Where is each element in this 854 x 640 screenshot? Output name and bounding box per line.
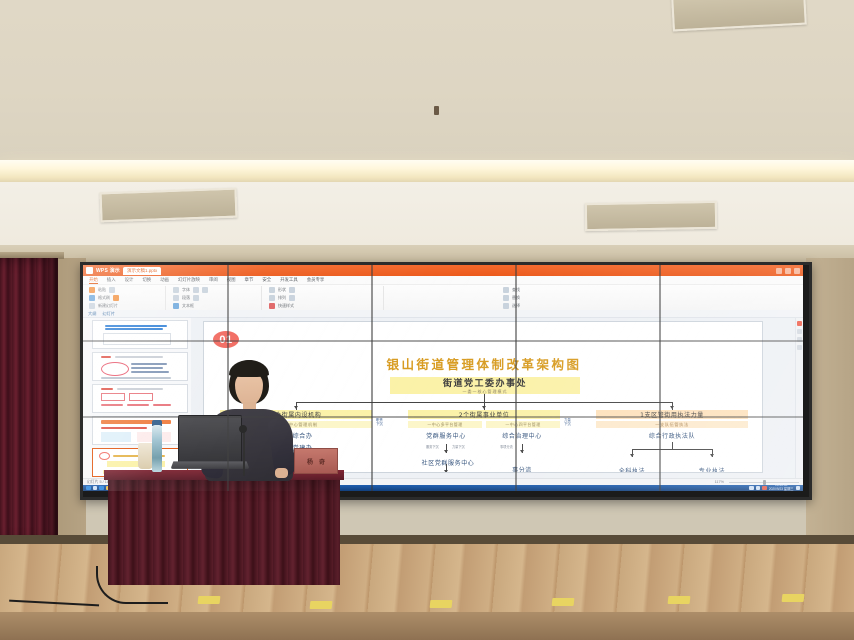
textbox-icon[interactable] [173, 303, 179, 309]
slides-tab[interactable]: 幻灯片 [102, 311, 115, 317]
ribbon-tab-11[interactable]: 会员专享 [307, 277, 325, 283]
font-size-icon[interactable] [193, 287, 199, 293]
ribbon-label-0-3[interactable]: 新建幻灯片 [98, 303, 118, 309]
select-icon[interactable] [503, 303, 509, 309]
arrange-icon[interactable] [269, 295, 275, 301]
laptop-keyboard [171, 461, 250, 468]
floor-tape-mark-5 [668, 596, 691, 604]
show-desktop-button[interactable] [796, 486, 801, 491]
ribbon-tab-4[interactable]: 动画 [160, 277, 169, 283]
wps-app-name: WPS 演示 [96, 267, 120, 274]
nameplate-char-left: 杨 [307, 457, 313, 466]
volume-tray-icon[interactable] [756, 486, 761, 491]
panel-bezel-h-1 [83, 340, 803, 342]
ribbon-separator-2 [261, 286, 262, 310]
arrowhead-1-a [444, 450, 448, 453]
thumbnail-slide-9[interactable]: 9 [92, 416, 188, 445]
wps-cloud-icon[interactable] [797, 321, 802, 326]
mini-label-1-c: 事项分流 [500, 444, 513, 449]
start-button-icon[interactable] [86, 486, 91, 491]
org-leaf-2-1: 专业执法 [684, 466, 740, 473]
ime-tray-icon[interactable] [762, 486, 767, 491]
ribbon-group-1: 字体 段落 文本框 [173, 287, 208, 309]
ribbon-separator-3 [383, 286, 384, 310]
microphone-head [239, 425, 247, 433]
org-column-1-twin: 一中心多平台管理 一中心四平台管理 [408, 421, 560, 428]
ribbon-group-3: 查找 替换 选择 [503, 287, 520, 309]
thumbnail-slide-6[interactable]: 6 [92, 320, 188, 349]
nameplate-char-right: 奇 [319, 457, 325, 466]
format-painter-icon[interactable] [89, 295, 95, 301]
stage-front-edge [0, 612, 854, 640]
ribbon-tab-0[interactable]: 开始 [89, 277, 98, 284]
thumbnail-slide-8[interactable]: 8 [92, 384, 188, 413]
ribbon-label-1-1[interactable]: 字体 [182, 287, 190, 293]
thumbnail-slide-7[interactable]: 7 [92, 352, 188, 381]
org-leaf-2-0: 全科执法 [604, 466, 660, 473]
org-item-1-0: 党群服务中心 [426, 431, 466, 440]
mini-label-1-a: 服务下沉 [426, 444, 439, 449]
ribbon-label-1-3[interactable]: 文本框 [182, 303, 194, 309]
ribbon-label-2-1[interactable]: 形状 [278, 287, 286, 293]
ribbon-label-0-2[interactable]: 格式刷 [98, 295, 110, 301]
arrowhead-col-1 [482, 406, 486, 409]
microphone-stand [243, 430, 245, 476]
conference-room-scene: WPS 演示 演示文稿1.pptx 开始 插入 设计 切换 动画 幻灯片放映 审… [0, 0, 854, 640]
ribbon-tab-2[interactable]: 设计 [125, 277, 134, 283]
arrowhead-2-left [630, 454, 634, 457]
align-icon[interactable] [173, 295, 179, 301]
presenter-fringe [229, 360, 269, 377]
connector-top-stem [484, 394, 485, 402]
network-tray-icon[interactable] [749, 486, 754, 491]
outline-tab[interactable]: 大纲 [88, 311, 96, 317]
org-item-1-1: 综合治理中心 [502, 431, 542, 440]
paste-icon[interactable] [89, 287, 95, 293]
org-column-2-sub: 一支队伍管执法 [596, 421, 748, 428]
ribbon-group-0: 粘贴 格式刷 新建幻灯片 [89, 287, 119, 309]
copy-icon[interactable] [89, 303, 95, 309]
org-node-top-sub: 一委一核心管理模式 [463, 389, 508, 395]
org-column-2: 1支区管街用执法力量 一支队伍管执法 综合行政执法队 [596, 410, 748, 440]
org-column-1: 2个街属事业单位 一中心多平台管理 一中心四平台管理 党群服务中心 综合治理中心 [408, 410, 560, 440]
zoom-slider-knob[interactable] [763, 480, 766, 485]
ribbon-tab-bar: 开始 插入 设计 切换 动画 幻灯片放映 审阅 视图 章节 安全 开发工具 会员… [83, 276, 803, 285]
ribbon-tab-8[interactable]: 章节 [245, 277, 254, 283]
floor-tape-mark-3 [430, 600, 453, 608]
ribbon-label-1-2[interactable]: 段落 [182, 295, 190, 301]
panel-bezel-v-4 [659, 265, 661, 491]
floor-tape-mark-2 [310, 601, 333, 609]
side-tag-0: 职责 下沉 [376, 419, 383, 427]
minimize-button[interactable] [776, 268, 782, 274]
org-column-1-twin-1: 一中心四平台管理 [486, 421, 560, 428]
maximize-button[interactable] [785, 268, 791, 274]
arrowhead-col-2 [670, 406, 674, 409]
document-tab[interactable]: 演示文稿1.pptx [123, 267, 161, 275]
water-bottle [152, 425, 162, 472]
connector-2-stem [672, 442, 673, 449]
outline-icon[interactable] [289, 295, 295, 301]
ribbon-separator-1 [165, 286, 166, 310]
podium-skirt [108, 477, 340, 585]
cut-icon[interactable] [109, 287, 115, 293]
ribbon-group-2: 形状 排列 快速样式 [269, 287, 295, 309]
floor-tape-mark-6 [782, 594, 805, 602]
outline-slides-switch: 大纲 幻灯片 [83, 310, 803, 318]
explorer-icon[interactable] [99, 486, 104, 491]
ribbon-tab-1[interactable]: 插入 [107, 277, 116, 283]
status-zoom-value[interactable]: 117% [715, 480, 724, 484]
wps-titlebar: WPS 演示 演示文稿1.pptx [83, 265, 803, 276]
bold-icon[interactable] [202, 287, 208, 293]
ribbon-tab-3[interactable]: 切换 [142, 277, 151, 283]
font-icon[interactable] [173, 287, 179, 293]
quick-style-icon[interactable] [269, 303, 275, 309]
bullet-icon[interactable] [193, 295, 199, 301]
find-icon[interactable] [503, 287, 509, 293]
ribbon-tab-5[interactable]: 幻灯片放映 [178, 277, 200, 283]
design-ideas-icon[interactable] [797, 329, 802, 334]
ribbon-tab-6[interactable]: 审阅 [209, 277, 218, 283]
panel-bezel-v-1 [227, 265, 229, 491]
paper-cup [138, 443, 153, 469]
ribbon-label-0-1[interactable]: 粘贴 [98, 287, 106, 293]
ribbon-tab-10[interactable]: 开发工具 [280, 277, 298, 283]
org-subitem-1-2: 事分流 [494, 465, 550, 473]
shape-icon[interactable] [269, 287, 275, 293]
status-slide-info: 幻灯片 5 / 18 [87, 480, 109, 485]
org-subitem-1-0: 社区党群服务中心 [400, 458, 496, 467]
presenter-hand [275, 468, 288, 478]
mini-label-1-b: 力量下沉 [452, 444, 465, 449]
stage-curtain [0, 258, 58, 543]
fill-icon[interactable] [289, 287, 295, 293]
ribbon-label-2-2[interactable]: 排列 [278, 295, 286, 301]
org-column-1-twin-0: 一中心多平台管理 [408, 421, 482, 428]
connector-2-bus [632, 449, 712, 450]
arrowhead-1-c [520, 450, 524, 453]
ribbon-label-2-3[interactable]: 快速样式 [278, 303, 294, 309]
floor-tape-mark-4 [552, 598, 575, 606]
comments-icon[interactable] [797, 345, 802, 350]
org-node-top: 街道党工委办事处 一委一核心管理模式 [390, 377, 580, 394]
org-column-1-items: 党群服务中心 综合治理中心 [408, 431, 560, 440]
ceiling-cove-light [0, 160, 854, 182]
side-tag-1: 力量 下沉 [564, 419, 571, 427]
right-tool-sidebar[interactable] [795, 318, 803, 478]
ceiling-vent-right [585, 201, 717, 231]
arrowhead-2-right [710, 454, 714, 457]
ceiling-camera [434, 106, 439, 115]
ceiling-vent-left [100, 188, 238, 223]
floor-cable-1 [9, 566, 101, 607]
taskview-icon[interactable] [93, 486, 98, 491]
ribbon-tab-9[interactable]: 安全 [262, 277, 271, 283]
panel-bezel-v-2 [371, 265, 373, 491]
arrowhead-1-b [444, 470, 448, 473]
taskbar-clock[interactable]: 15:45:50 2020/9/23 星期三 [769, 484, 794, 491]
new-slide-icon[interactable] [113, 295, 119, 301]
desk-nameplate: 杨 奇 [294, 448, 338, 474]
floor-tape-mark-1 [198, 596, 221, 604]
replace-icon[interactable] [503, 295, 509, 301]
panel-bezel-v-3 [515, 265, 517, 491]
zoom-slider[interactable] [729, 482, 799, 483]
laptop-screen [178, 415, 242, 465]
close-button[interactable] [794, 268, 800, 274]
org-item-2-0: 综合行政执法队 [596, 431, 748, 440]
wall-right [806, 258, 854, 548]
panel-bezel-h-2 [83, 416, 803, 418]
wps-logo-icon [86, 267, 93, 274]
